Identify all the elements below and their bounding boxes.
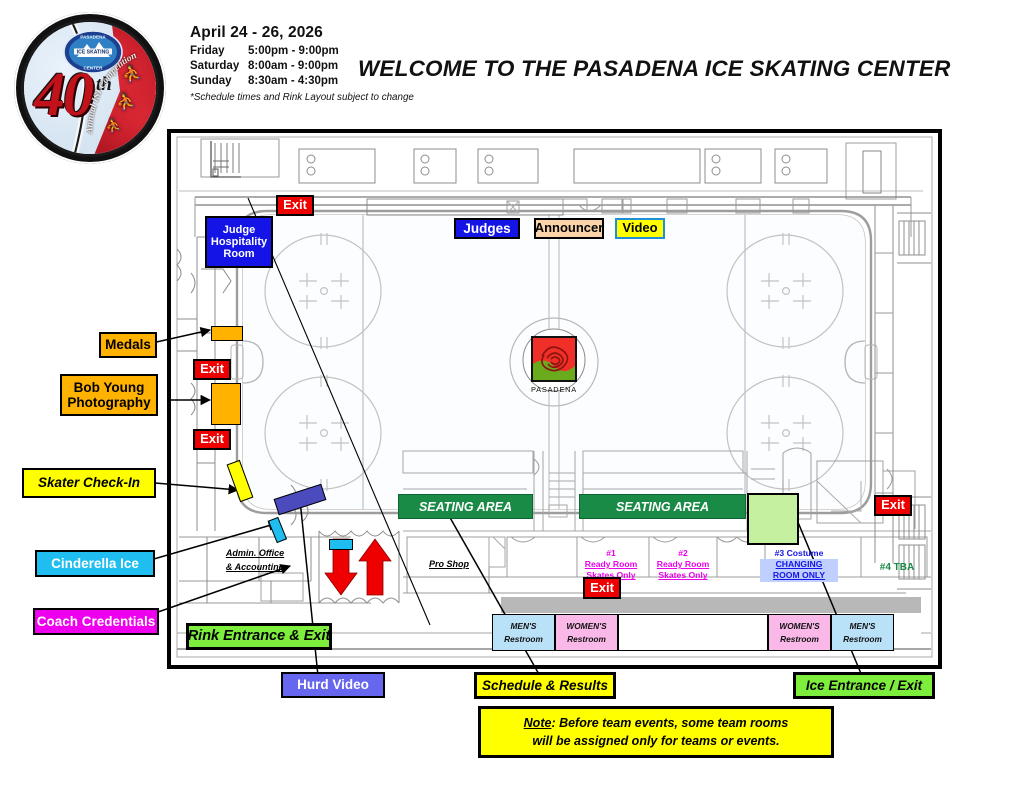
schedule-day: Saturday bbox=[190, 60, 248, 72]
schedule-time: 8:30am - 4:30pm bbox=[248, 75, 338, 87]
room-4-label: #4 TBA bbox=[871, 561, 923, 574]
restroom-womens-left: WOMEN'S Restroom bbox=[555, 614, 618, 651]
note-line-2: will be assigned only for teams or event… bbox=[532, 732, 779, 750]
callout-cinderella-ice: Cinderella Ice bbox=[35, 550, 155, 577]
callout-schedule-results: Schedule & Results bbox=[474, 672, 616, 699]
room-3-label: #3 Costume CHANGING ROOM ONLY bbox=[760, 548, 838, 582]
callout-ice-entrance-exit: Ice Entrance / Exit bbox=[793, 672, 935, 699]
skater-figure-icon-3: ⛹ bbox=[106, 118, 122, 134]
center-logo-caption: PASADENA bbox=[531, 385, 577, 394]
cinderella-ice-marker-2 bbox=[329, 539, 353, 550]
competition-logo-badge: 40 th ICE SKATING PASADENA CENTER Annual… bbox=[14, 12, 166, 164]
skater-figure-icon-1: ⛹ bbox=[122, 64, 142, 84]
skater-figure-icon-2: ⛹ bbox=[116, 92, 136, 112]
exit-label-right-middle: Exit bbox=[874, 495, 912, 516]
exit-label-bottom-center: Exit bbox=[583, 577, 621, 599]
schedule-day: Sunday bbox=[190, 75, 248, 87]
announcer-label: Announcer bbox=[534, 218, 604, 239]
restroom-mens-right: MEN'S Restroom bbox=[831, 614, 894, 651]
photography-station-marker bbox=[211, 383, 241, 425]
judge-hospitality-room-label: Judge Hospitality Room bbox=[205, 216, 273, 268]
callout-skater-check-in: Skater Check-In bbox=[22, 468, 156, 498]
note-line-1-rest: : Before team events, some team rooms bbox=[551, 716, 788, 730]
ice-entrance-marker bbox=[747, 493, 799, 545]
seating-area-right: SEATING AREA bbox=[579, 494, 746, 519]
exit-label-top-left: Exit bbox=[276, 195, 314, 216]
admin-office-label: Admin. Office & Accounting bbox=[205, 546, 305, 575]
exit-label-left-middle: Exit bbox=[193, 429, 231, 450]
team-rooms-note: Note: Before team events, some team room… bbox=[478, 706, 834, 758]
svg-text:PASADENA: PASADENA bbox=[80, 35, 106, 40]
judges-label: Judges bbox=[454, 218, 520, 239]
schedule-disclaimer: *Schedule times and Rink Layout subject … bbox=[190, 92, 710, 103]
callout-medals: Medals bbox=[99, 332, 157, 358]
note-prefix: Note bbox=[524, 716, 552, 730]
note-line-1: Note: Before team events, some team room… bbox=[524, 714, 789, 732]
callout-rink-entrance-exit: Rink Entrance & Exit bbox=[186, 623, 332, 650]
callout-coach-credentials: Coach Credentials bbox=[33, 608, 159, 635]
center-ice-rose-logo: PASADENA bbox=[520, 328, 588, 403]
page-title: WELCOME TO THE PASADENA ICE SKATING CENT… bbox=[358, 56, 951, 82]
schedule-time: 5:00pm - 9:00pm bbox=[248, 45, 339, 57]
lobby-area-block bbox=[618, 614, 768, 651]
medals-station-marker bbox=[211, 326, 243, 341]
room-2-label: #2 Ready Room Skates Only bbox=[645, 548, 721, 582]
exit-label-left-upper: Exit bbox=[193, 359, 231, 380]
rink-layout-page: 40 th ICE SKATING PASADENA CENTER Annual… bbox=[0, 0, 1024, 791]
rink-map-frame: PASADENA Exit Judge Hospitality Room Jud… bbox=[167, 129, 942, 669]
logo-inner-disc: 40 th ICE SKATING PASADENA CENTER Annual… bbox=[21, 19, 159, 157]
schedule-time: 8:00am - 9:00pm bbox=[248, 60, 338, 72]
callout-hurd-video: Hurd Video bbox=[281, 672, 385, 698]
callout-bob-young-photography: Bob Young Photography bbox=[60, 374, 158, 416]
schedule-day: Friday bbox=[190, 45, 248, 57]
pro-shop-label: Pro Shop bbox=[414, 557, 484, 571]
restroom-womens-right: WOMEN'S Restroom bbox=[768, 614, 831, 651]
seating-area-left: SEATING AREA bbox=[398, 494, 533, 519]
video-label: Video bbox=[615, 218, 665, 239]
restroom-mens-left: MEN'S Restroom bbox=[492, 614, 555, 651]
event-dates: April 24 - 26, 2026 bbox=[190, 24, 710, 42]
